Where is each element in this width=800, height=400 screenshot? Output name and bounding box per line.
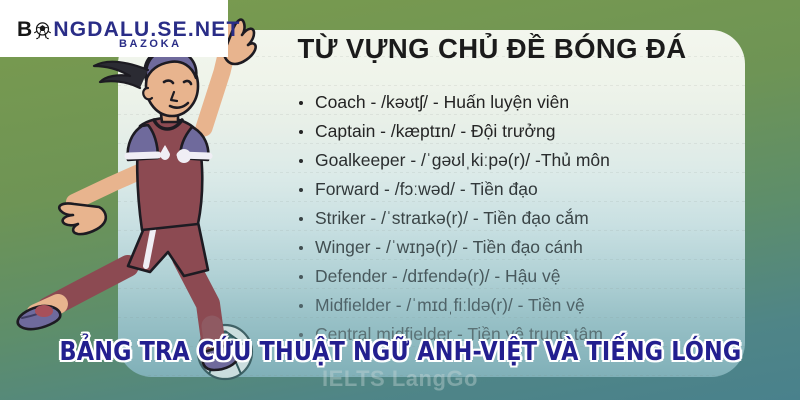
watermark-text: IELTS LangGo bbox=[0, 366, 800, 392]
female-football-player-illustration bbox=[8, 8, 308, 388]
list-item: Defender - /dɪfendə(r)/ - Hậu vệ bbox=[298, 262, 610, 291]
list-item: Midfielder - /ˈmɪdˌfiːldə(r)/ - Tiền vệ bbox=[298, 291, 610, 320]
list-item: Captain - /kæptɪn/ - Đội trưởng bbox=[298, 117, 610, 146]
vocabulary-list: Coach - /kəʊtʃ/ - Huấn luyện viên Captai… bbox=[298, 88, 610, 349]
list-item: Striker - /ˈstraɪkə(r)/ - Tiền đạo cắm bbox=[298, 204, 610, 233]
list-item: Goalkeeper - /ˈɡəʊlˌkiːpə(r)/ -Thủ môn bbox=[298, 146, 610, 175]
list-item: Coach - /kəʊtʃ/ - Huấn luyện viên bbox=[298, 88, 610, 117]
bottom-banner: BẢNG TRA CỨU THUẬT NGỮ ANH-VIỆT VÀ TIẾNG… bbox=[0, 337, 800, 367]
list-item: Winger - /ˈwɪŋə(r)/ - Tiền đạo cánh bbox=[298, 233, 610, 262]
infographic-canvas: B NGDALU.SE.NET BAZOKA TỪ VỰNG CHỦ ĐỀ BÓ… bbox=[0, 0, 800, 400]
football-mascot-icon bbox=[33, 21, 52, 40]
logo-letter-b: B bbox=[17, 18, 33, 42]
page-title: TỪ VỰNG CHỦ ĐỀ BÓNG ĐÁ bbox=[252, 33, 732, 65]
logo-subtitle: BAZOKA bbox=[119, 38, 182, 50]
site-logo[interactable]: B NGDALU.SE.NET BAZOKA bbox=[0, 0, 228, 57]
list-item: Forward - /fɔːwəd/ - Tiền đạo bbox=[298, 175, 610, 204]
bottom-banner-text: BẢNG TRA CỨU THUẬT NGỮ ANH-VIỆT VÀ TIẾNG… bbox=[59, 337, 741, 367]
